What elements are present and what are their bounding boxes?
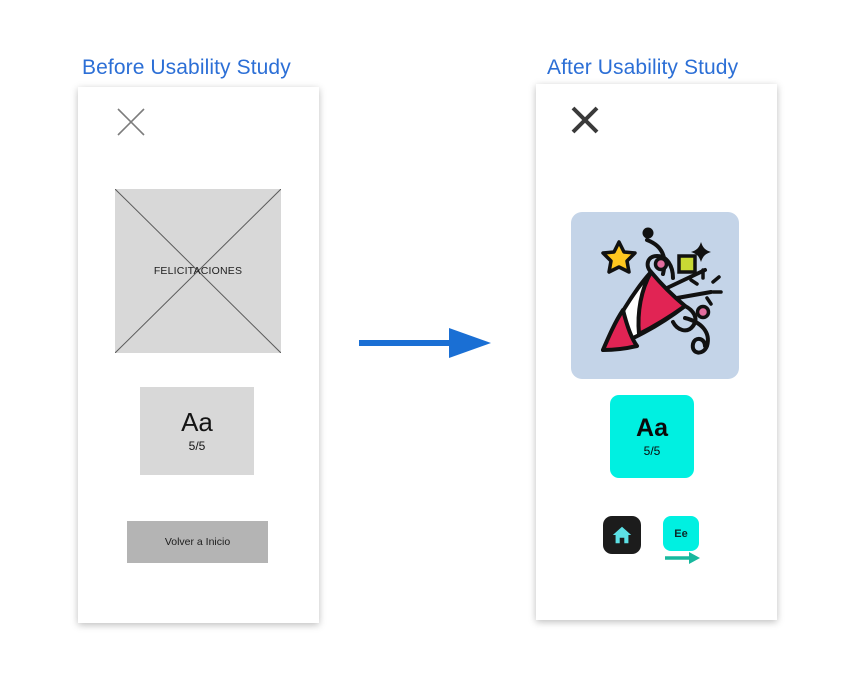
ee-button[interactable]: Ee (663, 516, 699, 551)
score-tile-value: 5/5 (644, 444, 661, 458)
volver-a-inicio-button[interactable]: Volver a Inicio (127, 521, 268, 563)
image-placeholder: FELICITACIONES (115, 189, 281, 353)
score-tile-letters: Aa (181, 409, 213, 436)
score-tile-value: 5/5 (189, 439, 206, 453)
score-tile-after: Aa 5/5 (610, 395, 694, 478)
close-x-icon[interactable] (569, 104, 601, 136)
ee-next-group: Ee (663, 516, 703, 570)
home-icon (611, 524, 633, 546)
phone-card-after: Aa 5/5 Ee (536, 84, 777, 620)
image-placeholder-label: FELICITACIONES (115, 265, 281, 277)
close-x-icon[interactable] (116, 107, 146, 137)
score-tile-letters: Aa (636, 416, 668, 441)
arrow-right-icon[interactable] (663, 552, 701, 569)
score-tile-before: Aa 5/5 (140, 387, 254, 475)
panel-title-after: After Usability Study (547, 56, 738, 80)
celebration-tile (571, 212, 739, 379)
phone-card-before: FELICITACIONES Aa 5/5 Volver a Inicio (78, 87, 319, 623)
action-row: Ee (603, 516, 715, 578)
flow-arrow-right-icon (357, 322, 493, 364)
home-button[interactable] (603, 516, 641, 554)
party-popper-icon (585, 226, 725, 366)
panel-title-before: Before Usability Study (82, 56, 291, 80)
